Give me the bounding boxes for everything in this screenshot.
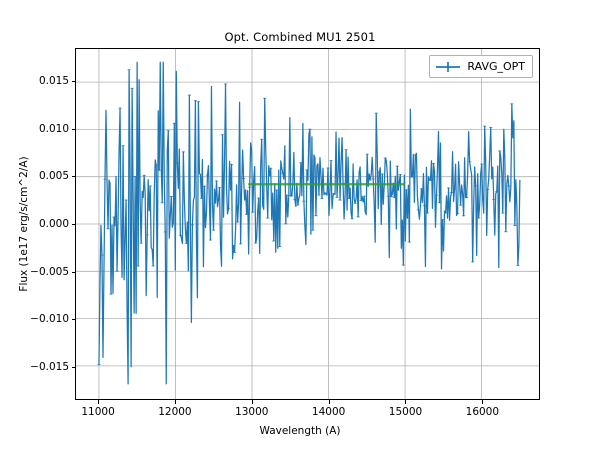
x-axis-label: Wavelength (A) — [0, 425, 600, 437]
figure-canvas: Opt. Combined MU1 2501 Flux (1e17 erg/s/… — [0, 0, 600, 450]
y-axis-label: Flux (1e17 erg/s/cm^2/A) — [18, 156, 30, 291]
x-tick-label: 11000 — [81, 406, 114, 418]
y-tick-mark — [72, 81, 76, 82]
legend-marker-icon — [435, 61, 461, 73]
y-tick-mark — [72, 319, 76, 320]
y-tick-label: −0.005 — [30, 266, 69, 278]
y-tick-label: 0.005 — [39, 170, 69, 182]
x-tick-mark — [252, 400, 253, 404]
x-tick-label: 16000 — [466, 406, 499, 418]
x-tick-mark — [98, 400, 99, 404]
y-tick-label: 0.010 — [39, 123, 69, 135]
y-tick-mark — [72, 367, 76, 368]
x-tick-label: 12000 — [158, 406, 191, 418]
y-tick-mark — [72, 129, 76, 130]
legend-label-ravg-opt: RAVG_OPT — [467, 60, 525, 73]
plot-axes: RAVG_OPT — [75, 48, 540, 400]
x-tick-mark — [329, 400, 330, 404]
y-tick-label: −0.015 — [30, 361, 69, 373]
legend[interactable]: RAVG_OPT — [429, 55, 533, 78]
x-tick-label: 13000 — [235, 406, 268, 418]
x-tick-label: 14000 — [312, 406, 345, 418]
y-tick-label: −0.010 — [30, 313, 69, 325]
x-tick-label: 15000 — [389, 406, 422, 418]
continuum-overlay-line — [76, 49, 539, 399]
y-tick-mark — [72, 224, 76, 225]
page-title: Opt. Combined MU1 2501 — [0, 30, 600, 44]
x-tick-mark — [175, 400, 176, 404]
y-tick-label: 0.000 — [39, 218, 69, 230]
y-tick-mark — [72, 272, 76, 273]
y-tick-mark — [72, 176, 76, 177]
x-tick-mark — [405, 400, 406, 404]
y-tick-label: 0.015 — [39, 75, 69, 87]
x-tick-mark — [482, 400, 483, 404]
